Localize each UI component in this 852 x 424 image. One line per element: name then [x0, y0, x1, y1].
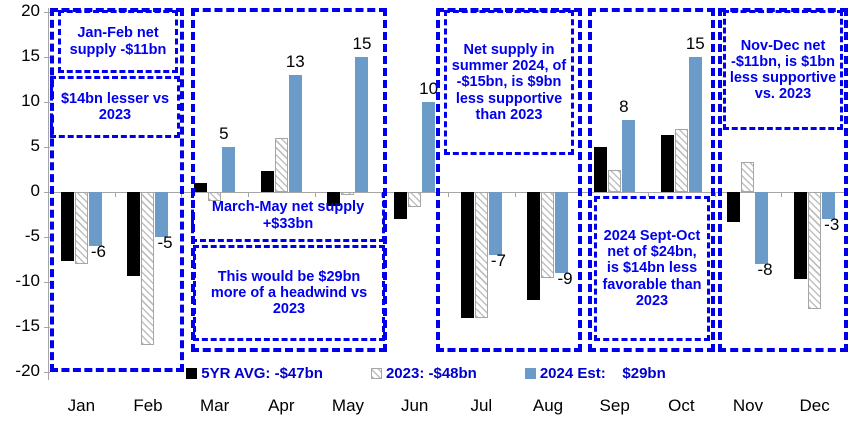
y-axis-tick-label: 5 — [0, 136, 40, 156]
bar-oct-s0 — [661, 135, 674, 192]
data-label-apr: 13 — [286, 52, 305, 72]
chart-root: 20151050-5-10-15-20 -6Jan-5Feb5Mar13Apr1… — [0, 0, 852, 424]
x-axis-tick-mark — [48, 192, 49, 197]
x-axis-tick-mark — [781, 192, 782, 197]
bar-jun-s2 — [422, 102, 435, 192]
bar-oct-s2 — [689, 57, 702, 192]
bar-nov-s2 — [755, 192, 768, 264]
bar-nov-s0 — [727, 192, 740, 222]
bar-jan-s0 — [61, 192, 74, 261]
x-axis-label-apr: Apr — [248, 396, 315, 416]
x-axis-tick-mark — [715, 192, 716, 197]
y-axis-tick-label: -10 — [0, 271, 40, 291]
annotation-march-may-headwind: This would be $29bn more of a headwind v… — [193, 245, 385, 341]
bar-mar-s2 — [222, 147, 235, 192]
bar-jun-s0 — [394, 192, 407, 219]
annotation-jan-feb-net: Jan-Feb net supply -$11bn — [58, 10, 178, 73]
x-axis-label-mar: Mar — [181, 396, 248, 416]
x-axis-label-jan: Jan — [48, 396, 115, 416]
data-label-jan: -6 — [91, 242, 106, 262]
bar-jun-s1 — [408, 192, 421, 207]
bar-dec-s0 — [794, 192, 807, 279]
bar-oct-s1 — [675, 129, 688, 192]
bar-apr-s1 — [275, 138, 288, 192]
bar-dec-s1 — [808, 192, 821, 309]
data-label-may: 15 — [352, 34, 371, 54]
y-axis-tick-label: -15 — [0, 316, 40, 336]
x-axis-label-feb: Feb — [115, 396, 182, 416]
bar-aug-s2 — [555, 192, 568, 273]
bar-jul-s2 — [489, 192, 502, 255]
data-label-nov: -8 — [757, 260, 772, 280]
x-axis-tick-mark — [448, 192, 449, 197]
x-axis-tick-mark — [581, 192, 582, 197]
data-label-mar: 5 — [219, 124, 228, 144]
bar-nov-s1 — [741, 162, 754, 192]
data-label-sep: 8 — [619, 97, 628, 117]
x-axis-tick-mark — [181, 192, 182, 197]
y-axis-tick-label: 10 — [0, 91, 40, 111]
annotation-march-may-net-text: March-May net supply +$33bn — [197, 199, 379, 231]
bar-apr-s2 — [289, 75, 302, 192]
data-label-aug: -9 — [557, 269, 572, 289]
legend-item-5yr-avg: 5YR AVG: -$47bn — [186, 365, 323, 382]
annotation-summer-net-text: Net supply in summer 2024, of -$15bn, is… — [450, 42, 568, 123]
bar-group-jun: 10Jun — [381, 8, 448, 380]
annotation-summer-net: Net supply in summer 2024, of -$15bn, is… — [444, 10, 574, 155]
legend-item-2023: 2023: -$48bn — [371, 365, 477, 382]
chart-legend: 5YR AVG: -$47bn 2023: -$48bn 2024 Est: $… — [0, 362, 852, 384]
bar-feb-s0 — [127, 192, 140, 276]
bar-aug-s0 — [527, 192, 540, 300]
annotation-sept-oct-net-text: 2024 Sept-Oct net of $24bn, is $14bn les… — [600, 228, 704, 309]
x-axis-label-dec: Dec — [781, 396, 848, 416]
x-axis-label-jul: Jul — [448, 396, 515, 416]
annotation-jan-feb-net-text: Jan-Feb net supply -$11bn — [64, 25, 172, 57]
x-axis-tick-mark — [515, 192, 516, 197]
data-label-jun: 10 — [419, 79, 438, 99]
data-label-jul: -7 — [491, 251, 506, 271]
bar-feb-s1 — [141, 192, 154, 345]
y-axis-tick-label: -5 — [0, 226, 40, 246]
bar-feb-s2 — [155, 192, 168, 237]
legend-item-2024-est: 2024 Est: $29bn — [525, 365, 666, 382]
x-axis-label-oct: Oct — [648, 396, 715, 416]
bar-jul-s1 — [475, 192, 488, 318]
legend-label-2024-est: 2024 Est: $29bn — [540, 365, 666, 382]
blue-square-icon — [525, 368, 536, 379]
black-square-icon — [186, 368, 197, 379]
annotation-nov-dec-net: Nov-Dec net -$11bn, is $1bn less support… — [723, 10, 843, 130]
annotation-nov-dec-net-text: Nov-Dec net -$11bn, is $1bn less support… — [729, 38, 837, 103]
y-axis-tick-label: 0 — [0, 181, 40, 201]
bar-mar-s0 — [194, 183, 207, 192]
x-axis-tick-mark — [115, 192, 116, 197]
x-axis-label-nov: Nov — [715, 396, 782, 416]
legend-label-2023: 2023: -$48bn — [386, 365, 477, 382]
bar-jul-s0 — [461, 192, 474, 318]
annotation-jan-feb-lesser-text: $14bn lesser vs 2023 — [56, 91, 174, 123]
x-axis-label-may: May — [315, 396, 382, 416]
bar-jan-s2 — [89, 192, 102, 246]
bar-jan-s1 — [75, 192, 88, 264]
x-axis-label-aug: Aug — [515, 396, 582, 416]
bar-aug-s1 — [541, 192, 554, 278]
bar-apr-s0 — [261, 171, 274, 192]
y-axis-tick-label: 20 — [0, 1, 40, 21]
annotation-sept-oct-net: 2024 Sept-Oct net of $24bn, is $14bn les… — [594, 196, 710, 341]
x-axis-label-jun: Jun — [381, 396, 448, 416]
annotation-march-may-net: March-May net supply +$33bn — [191, 192, 385, 242]
y-axis-tick-label: 15 — [0, 46, 40, 66]
bar-may-s2 — [355, 57, 368, 192]
annotation-jan-feb-lesser: $14bn lesser vs 2023 — [50, 76, 180, 138]
annotation-march-may-headwind-text: This would be $29bn more of a headwind v… — [199, 269, 379, 318]
data-label-feb: -5 — [157, 233, 172, 253]
x-axis-label-sep: Sep — [581, 396, 648, 416]
bar-sep-s0 — [594, 147, 607, 192]
hatched-square-icon — [371, 368, 382, 379]
data-label-oct: 15 — [686, 34, 705, 54]
data-label-dec: -3 — [824, 215, 839, 235]
bar-sep-s1 — [608, 170, 621, 193]
legend-label-5yr-avg: 5YR AVG: -$47bn — [201, 365, 323, 382]
bar-sep-s2 — [622, 120, 635, 192]
